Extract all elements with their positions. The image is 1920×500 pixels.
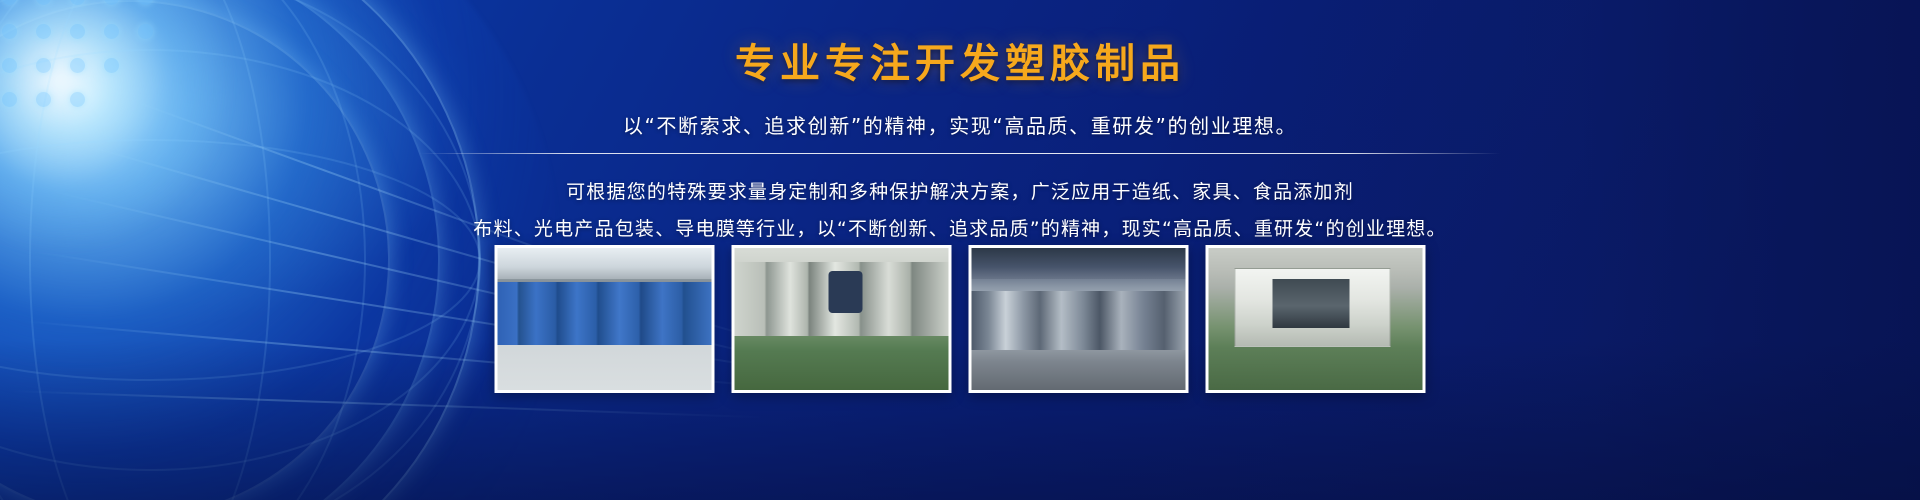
machine-window-grid [1273,279,1350,327]
photo-thumbnail-engraving-machine[interactable] [1206,245,1426,393]
divider-rule [420,153,1500,154]
photo-image-3 [972,248,1186,390]
banner-description-line-1: 可根据您的特殊要求量身定制和多种保护解决方案，广泛应用于造纸、家具、食品添加剂 [0,174,1920,211]
banner-subline: 以“不断索求、追求创新”的精神，实现“高品质、重研发”的创业理想。 [0,110,1920,139]
photo-image-2 [735,248,949,390]
banner-headline: 专业专注开发塑胶制品 [0,42,1920,86]
photo-thumbnail-production-line[interactable] [969,245,1189,393]
promo-banner: 专业专注开发塑胶制品 以“不断索求、追求创新”的精神，实现“高品质、重研发”的创… [0,0,1920,500]
photo-image-4 [1209,248,1423,390]
photo-image-1 [498,248,712,390]
banner-description-line-2: 布料、光电产品包装、导电膜等行业，以“不断创新、追求品质”的精神，现实“高品质、… [0,211,1920,248]
photo-thumbnail-cnc-workshop[interactable] [732,245,952,393]
photo-strip [495,245,1426,393]
photo-thumbnail-office-workshop[interactable] [495,245,715,393]
